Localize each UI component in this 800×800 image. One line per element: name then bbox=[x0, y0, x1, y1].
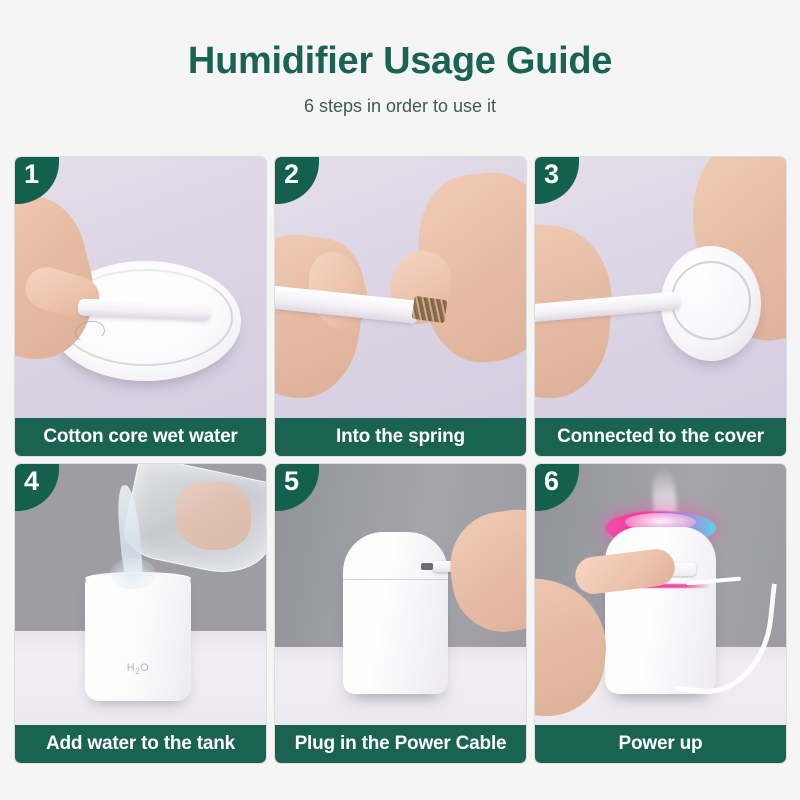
step-card-1[interactable]: 1 Cotton core wet water bbox=[15, 157, 266, 456]
hand-shape bbox=[443, 504, 526, 639]
scene-strip-into-spring bbox=[275, 157, 526, 418]
hand-holding-pitcher bbox=[176, 482, 251, 550]
humidifier-body bbox=[343, 532, 448, 694]
step-photo-4: H2O bbox=[15, 464, 266, 725]
page-subtitle: 6 steps in order to use it bbox=[0, 96, 800, 117]
steps-grid: 1 Cotton core wet water 2 Into the sprin… bbox=[15, 157, 786, 763]
step-caption-6: Power up bbox=[535, 725, 786, 763]
cover-ring-detail bbox=[671, 261, 751, 339]
step-photo-1 bbox=[15, 157, 266, 418]
power-port bbox=[421, 563, 434, 570]
step-caption-3: Connected to the cover bbox=[535, 418, 786, 456]
step-photo-3 bbox=[535, 157, 786, 418]
step-caption-2: Into the spring bbox=[275, 418, 526, 456]
page-title: Humidifier Usage Guide bbox=[0, 40, 800, 84]
page-header: Humidifier Usage Guide 6 steps in order … bbox=[0, 0, 800, 117]
water-splash bbox=[110, 558, 155, 589]
scene-plug-cable bbox=[275, 464, 526, 725]
scene-cotton-core-in-dish bbox=[15, 157, 266, 418]
scene-stick-into-cover bbox=[535, 157, 786, 418]
step-caption-5: Plug in the Power Cable bbox=[275, 725, 526, 763]
humidifier-seam bbox=[343, 579, 448, 581]
step-caption-1: Cotton core wet water bbox=[15, 418, 266, 456]
step-photo-2 bbox=[275, 157, 526, 418]
step-card-5[interactable]: 5 Plug in the Power Cable bbox=[275, 464, 526, 763]
water-tank bbox=[85, 576, 190, 701]
step-card-6[interactable]: 6 Power up bbox=[535, 464, 786, 763]
step-caption-4: Add water to the tank bbox=[15, 725, 266, 763]
step-card-4[interactable]: H2O 4 Add water to the tank bbox=[15, 464, 266, 763]
step-photo-5 bbox=[275, 464, 526, 725]
step-card-2[interactable]: 2 Into the spring bbox=[275, 157, 526, 456]
step-photo-6 bbox=[535, 464, 786, 725]
usage-guide-page: Humidifier Usage Guide 6 steps in order … bbox=[0, 0, 800, 800]
scene-pouring-water: H2O bbox=[15, 464, 266, 725]
step-card-3[interactable]: 3 Connected to the cover bbox=[535, 157, 786, 456]
spring-coil bbox=[412, 296, 448, 324]
tank-h2o-label: H2O bbox=[85, 662, 190, 676]
scene-powered-on bbox=[535, 464, 786, 725]
